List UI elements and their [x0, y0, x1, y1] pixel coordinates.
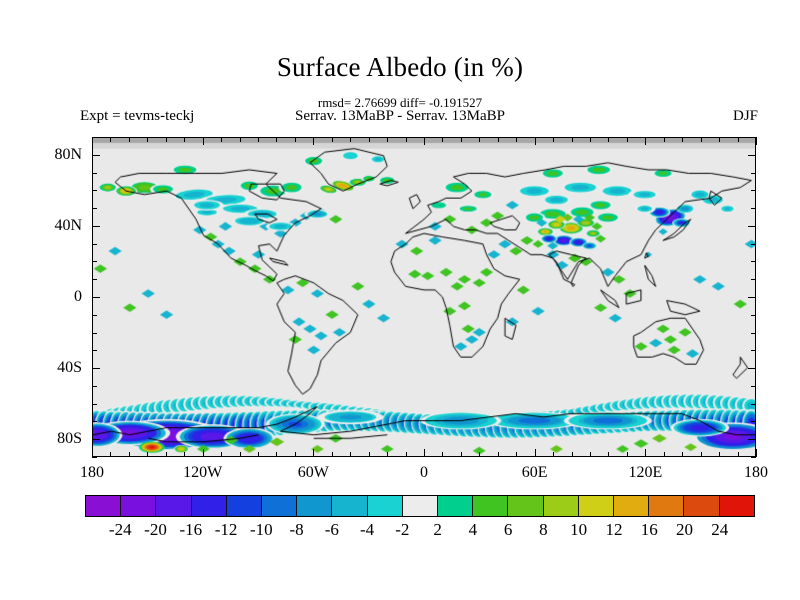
x-tick-top — [553, 137, 554, 142]
x-tick-top — [406, 137, 407, 142]
y-tick-right — [748, 155, 756, 156]
colorbar-tick-label-20: 20 — [676, 520, 693, 539]
y-tick-left — [92, 386, 97, 387]
x-tick-top — [461, 137, 462, 142]
colorbar-segment-0[interactable] — [86, 496, 121, 516]
x-tick-bottom — [701, 452, 702, 457]
x-tick-top — [424, 137, 425, 145]
colorbar-segment-4[interactable] — [227, 496, 262, 516]
x-tick-bottom — [553, 452, 554, 457]
x-axis-label-180: 180 — [744, 464, 768, 482]
x-tick-top — [258, 137, 259, 142]
colorbar-segment-7[interactable] — [332, 496, 367, 516]
x-tick-top — [332, 137, 333, 142]
colorbar-segment-18[interactable] — [720, 496, 754, 516]
x-tick-top — [166, 137, 167, 142]
x-axis-label-180: 180 — [80, 464, 104, 482]
x-tick-top — [221, 137, 222, 142]
x-tick-bottom — [369, 452, 370, 457]
x-axis-label-60E: 60E — [522, 464, 548, 482]
x-tick-bottom — [129, 452, 130, 457]
x-tick-bottom — [572, 452, 573, 457]
colorbar-segment-11[interactable] — [473, 496, 508, 516]
x-tick-bottom — [387, 452, 388, 457]
colorbar-tick-label--24: -24 — [109, 520, 132, 539]
y-tick-right — [751, 404, 756, 405]
x-axis-label-60W: 60W — [298, 464, 329, 482]
x-tick-top — [516, 137, 517, 142]
x-tick-bottom — [627, 452, 628, 457]
colorbar-segment-12[interactable] — [508, 496, 543, 516]
x-tick-bottom — [479, 452, 480, 457]
colorbar-tick-label--10: -10 — [250, 520, 273, 539]
y-tick-right — [751, 190, 756, 191]
y-tick-left — [92, 457, 97, 458]
x-tick-bottom — [756, 449, 757, 457]
colorbar-segment-15[interactable] — [614, 496, 649, 516]
colorbar-tick-label--6: -6 — [325, 520, 339, 539]
y-tick-right — [751, 279, 756, 280]
x-tick-top — [184, 137, 185, 142]
x-tick-top — [627, 137, 628, 142]
colorbar-segment-2[interactable] — [156, 496, 191, 516]
x-tick-bottom — [608, 452, 609, 457]
x-axis-label-0: 0 — [420, 464, 428, 482]
y-tick-left — [92, 226, 100, 227]
x-tick-top — [313, 137, 314, 145]
y-tick-right — [751, 244, 756, 245]
x-tick-bottom — [147, 452, 148, 457]
y-tick-right — [748, 226, 756, 227]
x-tick-bottom — [498, 452, 499, 457]
colorbar-segment-16[interactable] — [649, 496, 684, 516]
y-tick-right — [748, 368, 756, 369]
x-tick-top — [92, 137, 93, 145]
y-tick-left — [92, 350, 97, 351]
colorbar-tick-label--8: -8 — [289, 520, 303, 539]
x-tick-top — [719, 137, 720, 142]
y-tick-left — [92, 261, 97, 262]
x-tick-bottom — [461, 452, 462, 457]
x-tick-bottom — [258, 452, 259, 457]
x-tick-top — [590, 137, 591, 142]
x-tick-top — [701, 137, 702, 142]
y-tick-right — [751, 457, 756, 458]
colorbar-segment-8[interactable] — [368, 496, 403, 516]
x-tick-top — [535, 137, 536, 145]
x-tick-bottom — [92, 449, 93, 457]
colorbar-segment-17[interactable] — [684, 496, 719, 516]
y-tick-right — [751, 208, 756, 209]
x-tick-bottom — [516, 452, 517, 457]
x-tick-top — [756, 137, 757, 145]
map-plot-area[interactable] — [92, 137, 756, 457]
x-tick-top — [498, 137, 499, 142]
season-label: DJF — [733, 108, 758, 124]
colorbar-segment-1[interactable] — [121, 496, 156, 516]
x-tick-top — [738, 137, 739, 142]
x-tick-bottom — [442, 452, 443, 457]
x-tick-top — [350, 137, 351, 142]
x-tick-top — [147, 137, 148, 142]
y-axis-label-40S: 40S — [30, 359, 82, 377]
y-tick-left — [92, 333, 97, 334]
y-tick-left — [92, 173, 97, 174]
x-tick-top — [682, 137, 683, 142]
x-tick-bottom — [682, 452, 683, 457]
x-tick-bottom — [276, 452, 277, 457]
x-tick-top — [645, 137, 646, 145]
y-tick-right — [751, 315, 756, 316]
x-tick-bottom — [313, 449, 314, 457]
colorbar-tick-label-12: 12 — [605, 520, 622, 539]
y-tick-right — [748, 297, 756, 298]
y-tick-left — [92, 208, 97, 209]
x-axis-label-120W: 120W — [183, 464, 222, 482]
colorbar-tick-label-24: 24 — [711, 520, 728, 539]
y-tick-left — [92, 155, 100, 156]
x-tick-top — [276, 137, 277, 142]
x-tick-bottom — [332, 452, 333, 457]
colorbar-segment-5[interactable] — [262, 496, 297, 516]
x-tick-top — [203, 137, 204, 145]
colorbar-tick-label--4: -4 — [360, 520, 374, 539]
y-tick-left — [92, 421, 97, 422]
colorbar-tick-label-10: 10 — [570, 520, 587, 539]
y-tick-left — [92, 315, 97, 316]
x-tick-top — [664, 137, 665, 142]
y-axis-label-80N: 80N — [30, 146, 82, 164]
albedo-anomaly-map — [93, 138, 755, 456]
x-tick-top — [369, 137, 370, 142]
colorbar-tick-label--16: -16 — [179, 520, 202, 539]
colorbar-segment-6[interactable] — [297, 496, 332, 516]
y-tick-right — [751, 333, 756, 334]
colorbar-segment-9[interactable] — [403, 496, 438, 516]
colorbar-tick-label--2: -2 — [395, 520, 409, 539]
colorbar-segment-14[interactable] — [579, 496, 614, 516]
y-axis-label-80S: 80S — [30, 430, 82, 448]
colorbar-segment-13[interactable] — [544, 496, 579, 516]
x-tick-bottom — [295, 452, 296, 457]
colorbar-tick-label-6: 6 — [504, 520, 513, 539]
y-tick-left — [92, 190, 97, 191]
y-tick-left — [92, 404, 97, 405]
x-tick-top — [387, 137, 388, 142]
y-tick-left — [92, 244, 97, 245]
x-tick-bottom — [240, 452, 241, 457]
x-tick-top — [572, 137, 573, 142]
colorbar-tick-label-4: 4 — [469, 520, 478, 539]
y-tick-left — [92, 137, 97, 138]
colorbar-tick-label--12: -12 — [215, 520, 238, 539]
x-tick-bottom — [203, 449, 204, 457]
x-tick-top — [295, 137, 296, 142]
y-tick-left — [92, 279, 97, 280]
colorbar-tick-label-8: 8 — [539, 520, 548, 539]
y-tick-right — [751, 421, 756, 422]
y-tick-left — [92, 368, 100, 369]
x-tick-top — [442, 137, 443, 142]
x-tick-bottom — [166, 452, 167, 457]
y-tick-right — [748, 439, 756, 440]
y-tick-right — [751, 350, 756, 351]
y-axis-label-40N: 40N — [30, 217, 82, 235]
x-tick-bottom — [406, 452, 407, 457]
experiment-label: Expt = tevms-teckj — [80, 108, 194, 124]
x-tick-bottom — [590, 452, 591, 457]
colorbar-segment-10[interactable] — [438, 496, 473, 516]
x-tick-bottom — [184, 452, 185, 457]
y-axis-label-0: 0 — [30, 288, 82, 306]
y-tick-right — [751, 261, 756, 262]
x-tick-bottom — [535, 449, 536, 457]
x-tick-bottom — [350, 452, 351, 457]
y-tick-left — [92, 297, 100, 298]
x-tick-top — [110, 137, 111, 142]
colorbar-tick-label-2: 2 — [433, 520, 442, 539]
x-tick-bottom — [664, 452, 665, 457]
y-tick-right — [751, 137, 756, 138]
x-tick-top — [240, 137, 241, 142]
y-tick-right — [751, 173, 756, 174]
colorbar-segment-3[interactable] — [192, 496, 227, 516]
y-tick-right — [751, 386, 756, 387]
x-tick-bottom — [645, 449, 646, 457]
x-tick-top — [129, 137, 130, 142]
x-tick-bottom — [738, 452, 739, 457]
x-tick-bottom — [110, 452, 111, 457]
x-tick-bottom — [221, 452, 222, 457]
page-title: Surface Albedo (in %) — [0, 52, 800, 82]
colorbar[interactable] — [85, 495, 755, 517]
x-tick-bottom — [719, 452, 720, 457]
colorbar-tick-label-16: 16 — [641, 520, 658, 539]
x-tick-top — [479, 137, 480, 142]
colorbar-tick-label--20: -20 — [144, 520, 167, 539]
y-tick-left — [92, 439, 100, 440]
x-tick-bottom — [424, 449, 425, 457]
x-axis-label-120E: 120E — [628, 464, 662, 482]
x-tick-top — [608, 137, 609, 142]
